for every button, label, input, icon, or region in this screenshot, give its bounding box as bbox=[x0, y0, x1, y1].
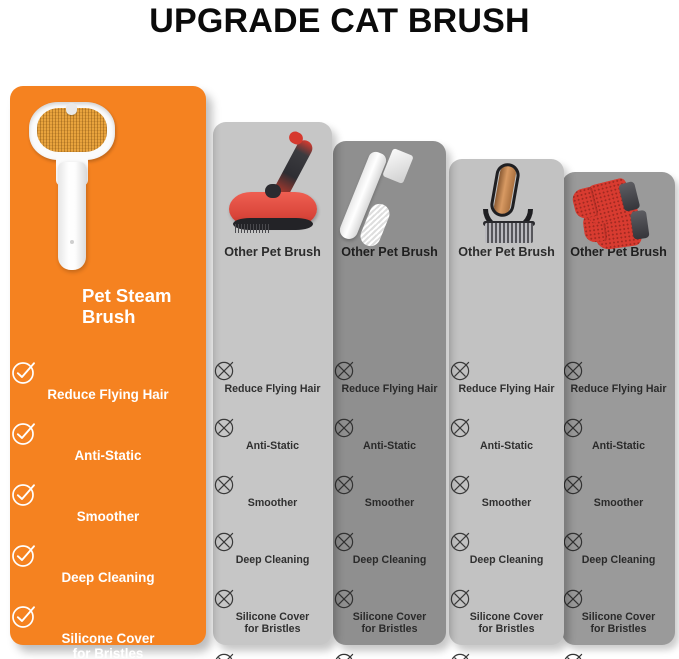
feature-list-other-4: Reduce Flying Hair Anti-Static bbox=[562, 358, 675, 659]
comparison-infographic: UPGRADE CAT BRUSH Pet Steam Brush bbox=[0, 0, 679, 659]
feature-item: Anti-Static bbox=[562, 415, 675, 472]
feature-label: Reduce Flying Hair bbox=[333, 384, 446, 396]
cross-circle-icon bbox=[333, 415, 446, 439]
feature-item: Reduce Flying Hair bbox=[333, 358, 446, 415]
feature-label: Anti-Static bbox=[562, 441, 675, 453]
feature-item: Smoother bbox=[562, 472, 675, 529]
cross-circle-icon bbox=[562, 358, 675, 382]
page-title: UPGRADE CAT BRUSH bbox=[0, 2, 679, 41]
check-circle-icon bbox=[10, 541, 206, 569]
feature-list-other-3: Reduce Flying Hair Anti-Static bbox=[449, 358, 564, 659]
feature-item: Reduce Flying Hair bbox=[10, 358, 206, 419]
feature-label: Anti-Static bbox=[333, 441, 446, 453]
feature-item: Anti-slip Texture Design bbox=[449, 650, 564, 659]
cross-circle-icon bbox=[213, 650, 332, 659]
product-name-other-2: Other Pet Brush bbox=[333, 245, 446, 259]
product-card-featured: Pet Steam Brush Reduce Flying Hair bbox=[10, 86, 206, 645]
cross-circle-icon bbox=[449, 586, 564, 610]
feature-label: Smoother bbox=[213, 498, 332, 510]
feature-label: Smoother bbox=[562, 498, 675, 510]
feature-item: Anti-Static bbox=[10, 419, 206, 480]
feature-label: Deep Cleaning bbox=[333, 555, 446, 567]
feature-label: Silicone Cover for Bristles bbox=[562, 612, 675, 635]
feature-label: Smoother bbox=[333, 498, 446, 510]
feature-list-featured: Reduce Flying Hair Anti-Static bbox=[10, 358, 206, 659]
feature-label: Silicone Cover for Bristles bbox=[449, 612, 564, 635]
feature-item: Anti-slip Texture Design bbox=[333, 650, 446, 659]
cross-circle-icon bbox=[449, 529, 564, 553]
feature-label: Smoother bbox=[10, 510, 206, 525]
cross-circle-icon bbox=[213, 358, 332, 382]
feature-item: Silicone Cover for Bristles bbox=[333, 586, 446, 650]
feature-item: Anti-Static bbox=[449, 415, 564, 472]
feature-item: Smoother bbox=[333, 472, 446, 529]
product-name-featured: Pet Steam Brush bbox=[82, 286, 200, 327]
feature-label: Reduce Flying Hair bbox=[10, 388, 206, 403]
feature-item: Deep Cleaning bbox=[562, 529, 675, 586]
cross-circle-icon bbox=[333, 586, 446, 610]
cross-circle-icon bbox=[449, 415, 564, 439]
cross-circle-icon bbox=[333, 529, 446, 553]
feature-item: Silicone Cover for Bristles bbox=[449, 586, 564, 650]
cross-circle-icon bbox=[333, 358, 446, 382]
feature-item: Reduce Flying Hair bbox=[213, 358, 332, 415]
product-card-other-4: Other Pet Brush Reduce Flying Hair bbox=[562, 172, 675, 645]
white-deshedding-blade-icon bbox=[355, 149, 431, 253]
feature-item: Anti-slip Texture Design bbox=[213, 650, 332, 659]
feature-label: Reduce Flying Hair bbox=[213, 384, 332, 396]
product-name-other-3: Other Pet Brush bbox=[449, 245, 564, 259]
feature-label: Smoother bbox=[449, 498, 564, 510]
cross-circle-icon bbox=[562, 472, 675, 496]
feature-item: Deep Cleaning bbox=[10, 541, 206, 602]
cross-circle-icon bbox=[213, 586, 332, 610]
feature-list-other-1: Reduce Flying Hair Anti-Static bbox=[213, 358, 332, 659]
product-name-other-1: Other Pet Brush bbox=[213, 245, 332, 259]
feature-item: Anti-slip Texture Design bbox=[562, 650, 675, 659]
feature-item: Smoother bbox=[449, 472, 564, 529]
cross-circle-icon bbox=[213, 472, 332, 496]
cross-circle-icon bbox=[449, 358, 564, 382]
feature-item: Reduce Flying Hair bbox=[449, 358, 564, 415]
white-steam-brush-icon bbox=[20, 100, 124, 272]
product-image-featured bbox=[10, 92, 206, 272]
check-circle-icon bbox=[10, 358, 206, 386]
feature-item: Deep Cleaning bbox=[333, 529, 446, 586]
check-circle-icon bbox=[10, 602, 206, 630]
product-card-other-3: Other Pet Brush Reduce Flying Hair bbox=[449, 159, 564, 645]
feature-list-other-2: Reduce Flying Hair Anti-Static bbox=[333, 358, 446, 659]
feature-label: Anti-Static bbox=[10, 449, 206, 464]
check-circle-icon bbox=[10, 480, 206, 508]
grooming-gloves-icon bbox=[576, 180, 662, 254]
feature-item: Smoother bbox=[213, 472, 332, 529]
cross-circle-icon bbox=[562, 529, 675, 553]
feature-item: Anti-Static bbox=[213, 415, 332, 472]
feature-label: Anti-Static bbox=[213, 441, 332, 453]
feature-item: Reduce Flying Hair bbox=[562, 358, 675, 415]
feature-item: Silicone Cover for Bristles bbox=[562, 586, 675, 650]
feature-label: Silicone Cover for Bristles bbox=[10, 632, 206, 659]
feature-item: Deep Cleaning bbox=[449, 529, 564, 586]
undercoat-rake-icon bbox=[471, 165, 545, 255]
feature-item: Silicone Cover for Bristles bbox=[10, 602, 206, 659]
feature-label: Deep Cleaning bbox=[449, 555, 564, 567]
cross-circle-icon bbox=[213, 415, 332, 439]
feature-item: Deep Cleaning bbox=[213, 529, 332, 586]
feature-label: Deep Cleaning bbox=[10, 571, 206, 586]
feature-label: Anti-Static bbox=[449, 441, 564, 453]
cross-circle-icon bbox=[449, 650, 564, 659]
feature-label: Deep Cleaning bbox=[213, 555, 332, 567]
product-card-other-2: Other Pet Brush Reduce Flying Hair bbox=[333, 141, 446, 645]
red-slicker-brush-icon bbox=[225, 132, 321, 236]
feature-label: Silicone Cover for Bristles bbox=[213, 612, 332, 635]
feature-item: Anti-Static bbox=[333, 415, 446, 472]
cross-circle-icon bbox=[333, 650, 446, 659]
feature-item: Smoother bbox=[10, 480, 206, 541]
cross-circle-icon bbox=[213, 529, 332, 553]
cross-circle-icon bbox=[562, 415, 675, 439]
cross-circle-icon bbox=[562, 586, 675, 610]
cross-circle-icon bbox=[333, 472, 446, 496]
check-circle-icon bbox=[10, 419, 206, 447]
cross-circle-icon bbox=[449, 472, 564, 496]
feature-item: Silicone Cover for Bristles bbox=[213, 586, 332, 650]
feature-label: Silicone Cover for Bristles bbox=[333, 612, 446, 635]
feature-label: Reduce Flying Hair bbox=[449, 384, 564, 396]
product-card-other-1: Other Pet Brush Reduce Flying Hair bbox=[213, 122, 332, 645]
feature-label: Reduce Flying Hair bbox=[562, 384, 675, 396]
feature-label: Deep Cleaning bbox=[562, 555, 675, 567]
cross-circle-icon bbox=[562, 650, 675, 659]
